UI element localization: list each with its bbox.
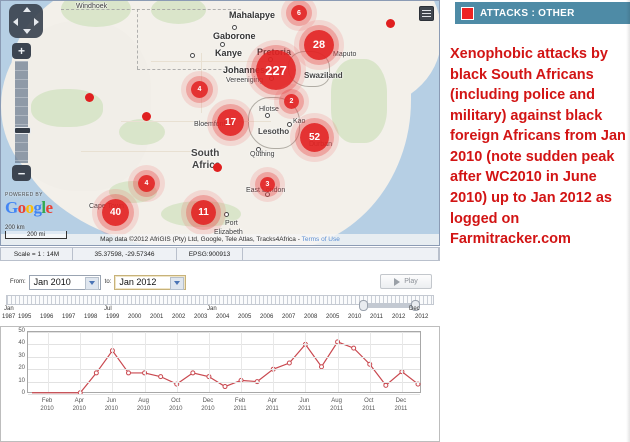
legend-label: ATTACKS : OTHER [480,8,575,19]
chart-x-tick-year: 2010 [30,405,64,413]
map-label: Windhoek [76,3,107,10]
chart-x-tick-label: Aug2011 [320,397,354,413]
status-coordinates: 35.37598, -29.57346 [73,248,177,260]
timeline-year: 2010 [348,314,361,320]
chart-y-tick-label: 0 [1,390,25,396]
timeline-year: 1987 [2,314,15,320]
from-date-select[interactable]: Jan 2010 [29,275,101,290]
chart-x-tick-label: Jun2010 [94,397,128,413]
time-controls: From: Jan 2010 to: Jan 2012 Play Jan Jul [0,272,440,322]
city-marker [220,42,225,47]
chart-x-tick-month: Dec [384,397,418,405]
chart-gridline-vertical [273,332,274,392]
chart-x-tick-label: Aug2010 [127,397,161,413]
panel-edge-shadow [626,0,630,442]
chart-x-tick-month: Feb [223,397,257,405]
timeline-year: 2002 [172,314,185,320]
from-date-value: Jan 2010 [34,277,71,287]
chart-gridline-horizontal [28,332,420,333]
attacks-timeline-chart: 01020304050 Feb2010Apr2010Jun2010Aug2010… [0,326,440,442]
chart-x-tick-month: Dec [191,397,225,405]
map-label: Kao [293,118,305,125]
map-label: Port [225,220,238,227]
timeline-year-ticks: 1987 1995 1996 1997 1998 1999 2000 2001 … [0,314,440,322]
map-zoom-slider[interactable]: + − [12,43,31,181]
from-label: From: [10,279,26,285]
chart-data-point[interactable] [94,371,98,375]
terms-of-use-link[interactable]: Terms of Use [302,236,340,243]
timeline-year: 2005 [326,314,339,320]
play-icon [394,278,400,286]
chart-x-tick-year: 2011 [255,405,289,413]
cluster-marker[interactable]: 52 [300,123,329,152]
chart-x-axis: Feb2010Apr2010Jun2010Aug2010Oct2010Dec20… [27,397,421,421]
timeline-year-end: 2012 [415,314,428,320]
chart-x-tick-year: 2011 [287,405,321,413]
chart-gridline-vertical [145,332,146,392]
chart-y-tick-label: 30 [1,353,25,359]
chart-gridline-horizontal [28,344,420,345]
timeline-year: 2006 [260,314,273,320]
timeline-year: 2005 [238,314,251,320]
cluster-marker[interactable]: 4 [138,175,155,192]
chart-x-tick-month: Jun [287,397,321,405]
layer-switcher-icon[interactable] [419,6,434,21]
cluster-marker[interactable]: 4 [191,81,208,98]
zoom-track[interactable] [15,61,28,163]
chart-data-point[interactable] [287,361,291,365]
map-label: Lesotho [258,127,289,136]
chart-x-tick-year: 2011 [223,405,257,413]
map-label: Kanye [215,48,242,58]
map-pin[interactable] [142,112,151,121]
chart-x-tick-label: Dec2011 [384,397,418,413]
chart-x-tick-year: 2011 [384,405,418,413]
chart-gridline-vertical [80,332,81,392]
city-marker [265,113,270,118]
map-and-chart-panel: Windhoek Mahalapye Gaborone Kanye Pretor… [0,0,440,442]
chart-data-point[interactable] [223,385,227,389]
timeline-year: 2001 [150,314,163,320]
chart-x-tick-month: Oct [159,397,193,405]
map-label: Swaziland [304,71,343,80]
map-label: Gaborone [213,31,256,41]
map-label: Hlotse [259,106,279,113]
cluster-marker[interactable]: 227 [256,50,296,90]
chart-plot-area [27,331,421,393]
chart-x-tick-month: Apr [62,397,96,405]
map-pin[interactable] [213,163,222,172]
legend-color-swatch [461,7,474,20]
chart-x-tick-year: 2010 [159,405,193,413]
cluster-marker[interactable]: 40 [102,199,129,226]
chart-x-tick-label: Feb2010 [30,397,64,413]
map-pin[interactable] [386,19,395,28]
chart-line-svg [28,332,422,394]
timeline-year: 2000 [128,314,141,320]
chart-x-tick-month: Feb [30,397,64,405]
status-spacer [243,248,439,260]
chart-x-tick-label: Feb2011 [223,397,257,413]
road [81,151,201,152]
chart-data-point[interactable] [127,371,131,375]
timeline-major-end-month: Dec [409,306,420,313]
cluster-marker[interactable]: 28 [304,30,334,60]
map-pin[interactable] [85,93,94,102]
city-marker [190,53,195,58]
chart-gridline-horizontal [28,357,420,358]
timeline-year: 2004 [216,314,229,320]
chart-x-tick-label: Oct2010 [159,397,193,413]
chart-y-tick-label: 20 [1,365,25,371]
play-button[interactable]: Play [380,274,432,289]
timeline-year: 1998 [84,314,97,320]
pan-right-icon[interactable] [34,18,39,26]
timeline-year: 2003 [194,314,207,320]
map-status-bar: Scale = 1 : 14M 35.37598, -29.57346 EPSG… [0,247,440,261]
cluster-marker[interactable]: 17 [217,109,244,136]
timeline-year: 2008 [304,314,317,320]
chart-gridline-vertical [338,332,339,392]
chart-x-tick-year: 2011 [352,405,386,413]
chart-gridline-vertical [402,332,403,392]
map-label: Quthing [250,151,275,158]
google-wordmark: Google [5,198,52,217]
chart-y-tick-label: 50 [1,328,25,334]
scale-mi-label: 200 mi [5,231,67,239]
chart-data-point[interactable] [352,346,356,350]
cluster-marker[interactable]: 3 [260,177,275,192]
chart-x-tick-month: Jun [94,397,128,405]
to-date-select[interactable]: Jan 2012 [114,275,186,290]
chart-gridline-horizontal [28,369,420,370]
chart-gridline-vertical [112,332,113,392]
attribution-text: Map data ©2012 AfriGIS (Pty) Ltd, Google… [100,236,301,243]
timeline-range-slider[interactable] [6,295,434,305]
chart-x-tick-month: Apr [255,397,289,405]
chart-gridline-vertical [177,332,178,392]
timeline-year: 1996 [40,314,53,320]
status-scale: Scale = 1 : 14M [1,248,73,260]
cluster-marker[interactable]: 11 [191,200,216,225]
timeline-major-mid2-month: Jan [207,306,217,313]
chart-y-tick-label: 40 [1,340,25,346]
pan-up-icon[interactable] [23,7,31,12]
chart-gridline-vertical [241,332,242,392]
map-tiles[interactable]: Windhoek Mahalapye Gaborone Kanye Pretor… [1,1,439,245]
city-marker [224,212,229,217]
chart-gridline-horizontal [28,394,420,395]
chart-gridline-vertical [209,332,210,392]
timeline-major-mid-month: Jul [104,306,112,313]
chart-x-tick-month: Aug [127,397,161,405]
annotation-text: Xenophobic attacks by black South Africa… [450,44,630,250]
vegetation-area [119,119,165,145]
chart-x-tick-label: Apr2010 [62,397,96,413]
map-pan-control[interactable] [9,4,43,38]
cluster-marker[interactable]: 2 [284,94,299,109]
map-viewport[interactable]: Windhoek Mahalapye Gaborone Kanye Pretor… [0,0,440,246]
cluster-marker[interactable]: 6 [291,5,307,21]
zoom-out-button[interactable]: − [12,165,31,181]
chart-gridline-vertical [48,332,49,392]
chart-y-tick-label: 10 [1,378,25,384]
map-label: Mahalapye [229,10,275,20]
zoom-thumb[interactable] [14,127,31,134]
map-scale-bar: 200 km 200 mi [5,225,67,239]
chart-x-tick-label: Oct2011 [352,397,386,413]
city-marker [232,25,237,30]
layer-line [422,16,431,18]
google-logo: POWERED BY Google [5,193,52,217]
play-label: Play [404,278,418,285]
chart-data-point[interactable] [416,382,420,386]
timeline-axis-labels: Jan Jul Jan Dec 1987 1995 1996 1997 1998… [0,306,440,322]
timeline-year: 2011 [370,314,383,320]
chart-data-point[interactable] [384,383,388,387]
chevron-down-icon[interactable] [85,277,99,290]
timeline-year: 2007 [282,314,295,320]
pan-left-icon[interactable] [13,18,18,26]
chart-x-tick-month: Oct [352,397,386,405]
chart-x-tick-year: 2010 [62,405,96,413]
status-projection: EPSG:900913 [177,248,243,260]
layer-line [422,13,431,15]
chart-x-tick-month: Aug [320,397,354,405]
timeline-year: 1997 [62,314,75,320]
chart-x-tick-label: Jun2011 [287,397,321,413]
chart-data-point[interactable] [320,365,324,369]
timeline-year: 2012 [392,314,405,320]
timeline-major-start-month: Jan [4,306,14,313]
chart-x-tick-year: 2010 [94,405,128,413]
zoom-in-button[interactable]: + [12,43,31,59]
map-label: South [191,148,219,159]
chart-x-tick-year: 2010 [191,405,225,413]
map-legend: ATTACKS : OTHER [455,2,630,24]
chart-data-point[interactable] [191,371,195,375]
layer-line [422,10,431,12]
to-date-value: Jan 2012 [119,277,156,287]
chart-x-tick-label: Apr2011 [255,397,289,413]
chart-x-tick-year: 2011 [320,405,354,413]
country-border [137,9,138,69]
timeline-year: 1995 [18,314,31,320]
chart-gridline-vertical [370,332,371,392]
to-label: to: [105,279,112,285]
chevron-down-icon[interactable] [170,277,184,290]
date-range-row: From: Jan 2010 to: Jan 2012 Play [0,272,440,292]
chart-data-point[interactable] [159,375,163,379]
timeline-year: 1999 [106,314,119,320]
chart-y-axis: 01020304050 [1,331,25,393]
annotation-panel: ATTACKS : OTHER Xenophobic attacks by bl… [440,0,630,442]
chart-x-tick-year: 2010 [127,405,161,413]
chart-gridline-vertical [305,332,306,392]
chart-gridline-horizontal [28,382,420,383]
pan-down-icon[interactable] [23,29,31,34]
map-label: Maputo [333,51,356,58]
chart-x-tick-label: Dec2010 [191,397,225,413]
